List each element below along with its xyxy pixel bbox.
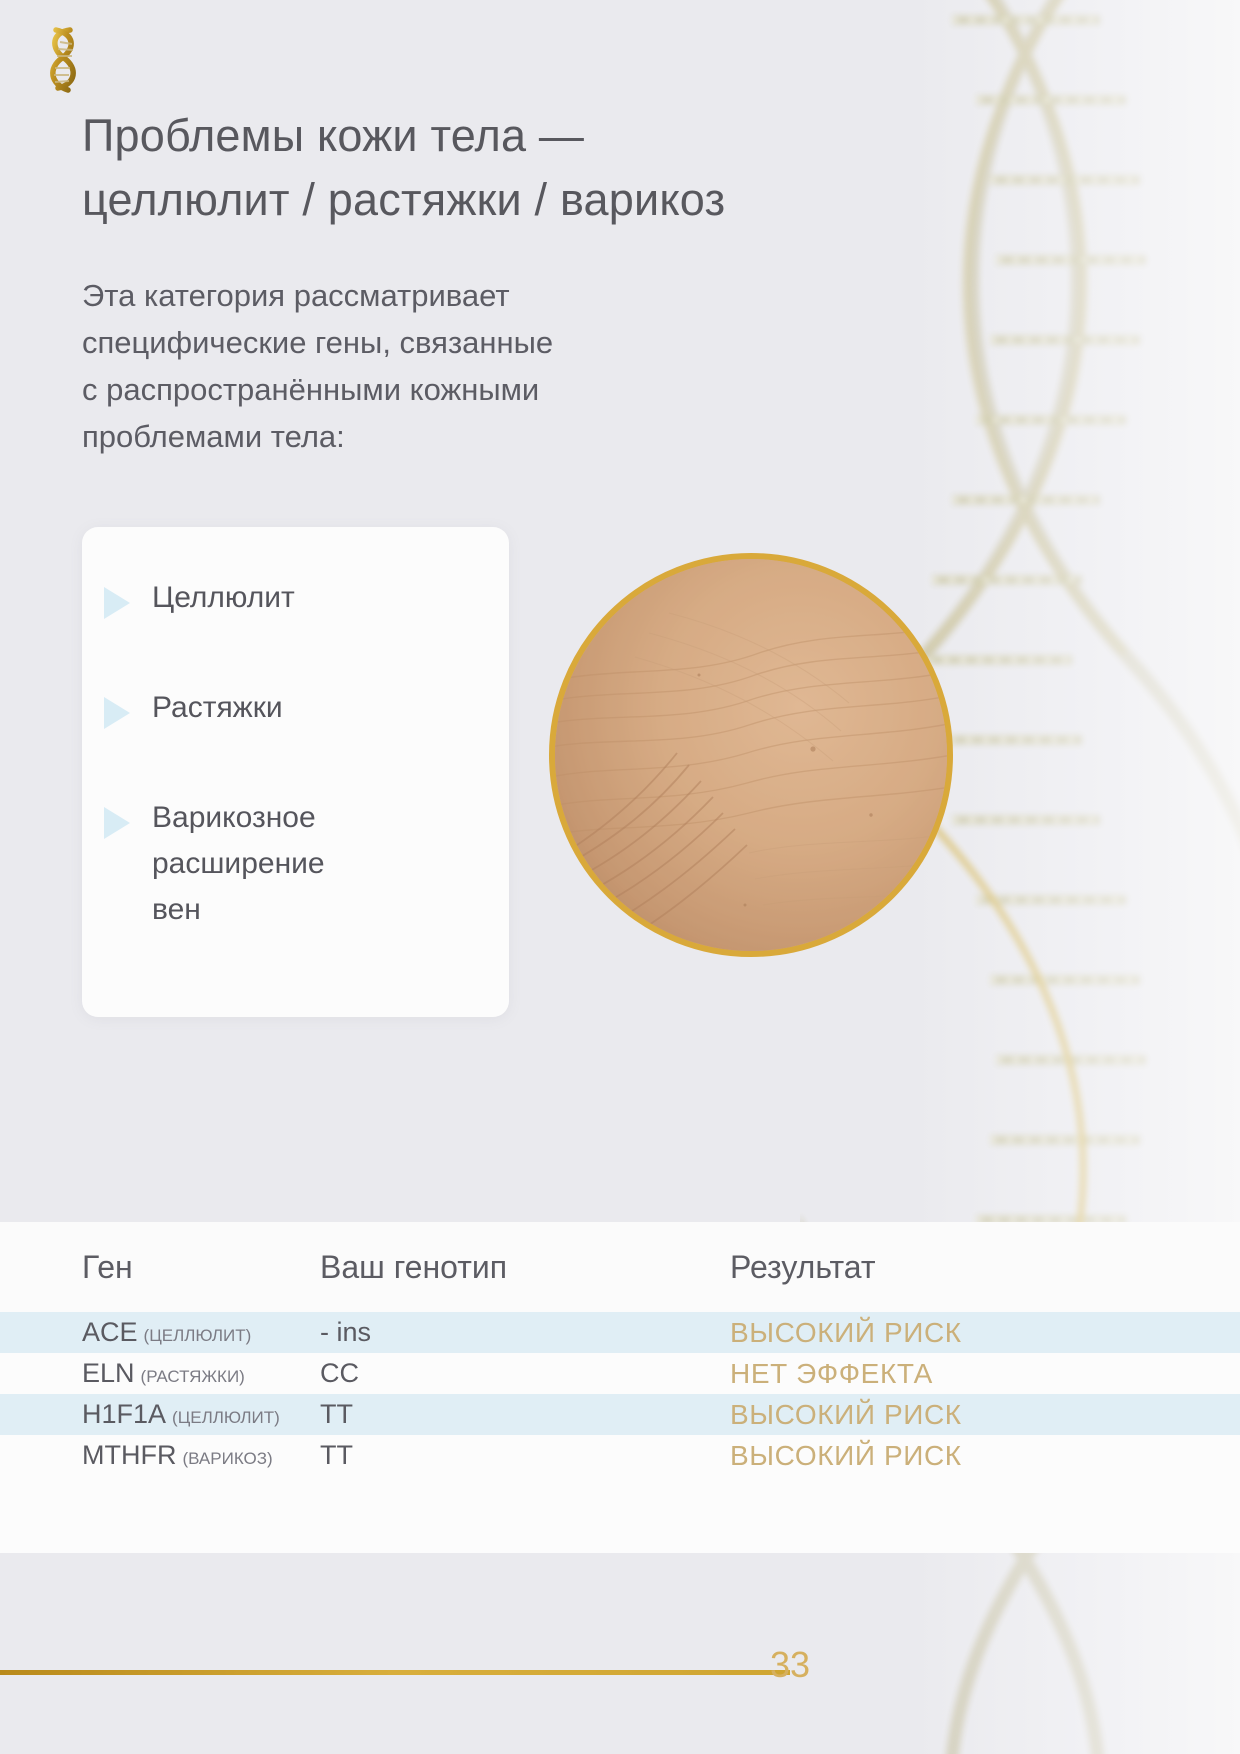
gene-note: (ВАРИКОЗ) xyxy=(182,1449,272,1468)
problem-list-card: Целлюлит Растяжки Варикозное расширение … xyxy=(82,527,509,1017)
cell-gene: ELN(РАСТЯЖКИ) xyxy=(0,1358,320,1389)
cell-gene: ACE(ЦЕЛЛЮЛИТ) xyxy=(0,1317,320,1348)
gene-name: ACE xyxy=(82,1317,138,1347)
list-item-label: Растяжки xyxy=(152,685,283,731)
page-intro: Эта категория рассматривает специфически… xyxy=(82,272,802,460)
cell-result: НЕТ ЭФФЕКТА xyxy=(730,1358,1240,1390)
list-item: Целлюлит xyxy=(104,575,493,621)
body-skin-closeup-photo xyxy=(549,553,953,957)
gene-name: H1F1A xyxy=(82,1399,166,1429)
table-row: MTHFR(ВАРИКОЗ) TT ВЫСОКИЙ РИСК xyxy=(0,1435,1240,1476)
page-title: Проблемы кожи тела — целлюлит / растяжки… xyxy=(82,104,982,232)
cell-genotype: CC xyxy=(320,1358,730,1389)
list-item-label: Целлюлит xyxy=(152,575,295,621)
gene-name: ELN xyxy=(82,1358,135,1388)
triangle-right-icon xyxy=(104,697,130,729)
triangle-right-icon xyxy=(104,587,130,619)
cell-result: ВЫСОКИЙ РИСК xyxy=(730,1317,1240,1349)
gene-note: (ЦЕЛЛЮЛИТ) xyxy=(144,1326,252,1345)
problem-list: Целлюлит Растяжки Варикозное расширение … xyxy=(104,575,493,932)
list-item: Растяжки xyxy=(104,685,493,731)
results-table: Ген Ваш генотип Результат ACE(ЦЕЛЛЮЛИТ) … xyxy=(0,1222,1240,1553)
cell-gene: MTHFR(ВАРИКОЗ) xyxy=(0,1440,320,1471)
cell-genotype: TT xyxy=(320,1399,730,1430)
list-item-label: Варикозное расширение вен xyxy=(152,795,325,933)
column-header-genotype: Ваш генотип xyxy=(320,1249,730,1286)
table-row: H1F1A(ЦЕЛЛЮЛИТ) TT ВЫСОКИЙ РИСК xyxy=(0,1394,1240,1435)
page-number: 33 xyxy=(735,1644,845,1686)
dna-helix-icon xyxy=(30,18,96,104)
triangle-right-icon xyxy=(104,807,130,839)
table-header-row: Ген Ваш генотип Результат xyxy=(0,1222,1240,1312)
gene-note: (ЦЕЛЛЮЛИТ) xyxy=(172,1408,280,1427)
cell-genotype: TT xyxy=(320,1440,730,1471)
gene-name: MTHFR xyxy=(82,1440,176,1470)
table-bottom-spacer xyxy=(0,1476,1240,1553)
footer-divider xyxy=(0,1670,790,1675)
cell-gene: H1F1A(ЦЕЛЛЮЛИТ) xyxy=(0,1399,320,1430)
table-row: ACE(ЦЕЛЛЮЛИТ) - ins ВЫСОКИЙ РИСК xyxy=(0,1312,1240,1353)
table-row: ELN(РАСТЯЖКИ) CC НЕТ ЭФФЕКТА xyxy=(0,1353,1240,1394)
slide-page: Проблемы кожи тела — целлюлит / растяжки… xyxy=(0,0,1240,1754)
list-item: Варикозное расширение вен xyxy=(104,795,493,933)
column-header-result: Результат xyxy=(730,1249,1240,1286)
cell-genotype: - ins xyxy=(320,1317,730,1348)
cell-result: ВЫСОКИЙ РИСК xyxy=(730,1440,1240,1472)
gene-note: (РАСТЯЖКИ) xyxy=(141,1367,245,1386)
cell-result: ВЫСОКИЙ РИСК xyxy=(730,1399,1240,1431)
column-header-gene: Ген xyxy=(0,1249,320,1286)
